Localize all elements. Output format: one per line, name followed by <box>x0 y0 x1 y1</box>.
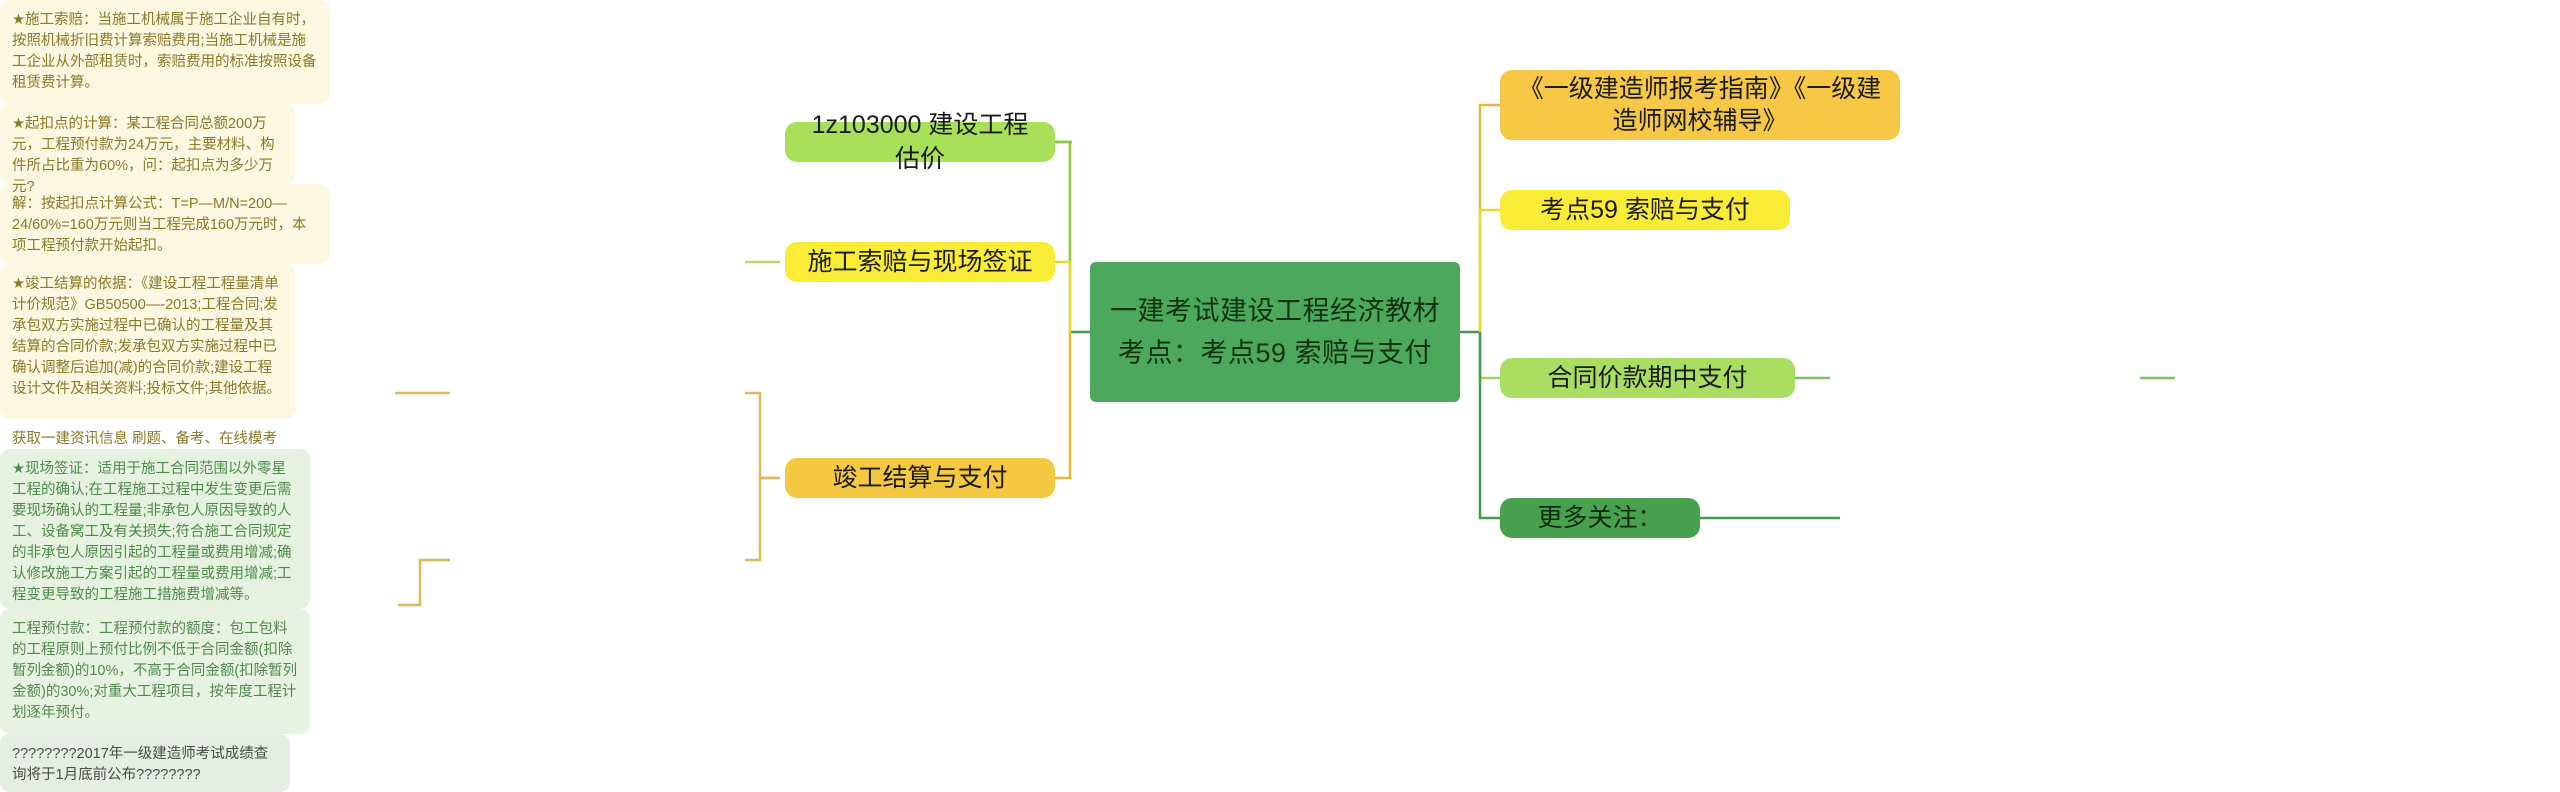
branch-interim-payment-label: 合同价款期中支付 <box>1547 361 1747 395</box>
note-footer-links-text: 获取一建资讯信息 刷题、备考、在线模考 <box>12 431 277 447</box>
branch-more-focus-label: 更多关注： <box>1537 501 1662 535</box>
note-deduction-solution[interactable]: 解：按起扣点计算公式：T=P—M/N=200—24/60%=160万元则当工程完… <box>0 184 330 264</box>
branch-interim-payment[interactable]: 合同价款期中支付 <box>1500 358 1795 398</box>
note-settlement-basis-text: ★竣工结算的依据：《建设工程工程量清单计价规范》GB50500—-2013;工程… <box>12 276 281 397</box>
branch-settlement[interactable]: 竣工结算与支付 <box>785 458 1055 498</box>
branch-guide[interactable]: 《一级建造师报考指南》《一级建造师网校辅导》 <box>1500 70 1900 140</box>
note-more-focus-text-content: ????????2017年一级建造师考试成绩查询将于1月底前公布???????? <box>12 746 268 783</box>
note-more-focus-text[interactable]: ????????2017年一级建造师考试成绩查询将于1月底前公布???????? <box>0 734 290 792</box>
central-topic-label: 一建考试建设工程经济教材考点：考点59 索赔与支付 <box>1102 290 1448 374</box>
central-topic[interactable]: 一建考试建设工程经济教材考点：考点59 索赔与支付 <box>1090 262 1460 402</box>
note-footer-links[interactable]: 获取一建资讯信息 刷题、备考、在线模考 <box>0 419 290 449</box>
mindmap-canvas: 一建考试建设工程经济教材考点：考点59 索赔与支付 1z103000 建设工程估… <box>0 0 2560 704</box>
note-site-visa[interactable]: ★现场签证：适用于施工合同范围以外零星工程的确认;在工程施工过程中发生变更后需要… <box>0 449 310 609</box>
branch-estimate-label: 1z103000 建设工程估价 <box>801 108 1039 176</box>
note-settlement-basis[interactable]: ★竣工结算的依据：《建设工程工程量清单计价规范》GB50500—-2013;工程… <box>0 264 295 419</box>
note-claim-detail-text: ★施工索赔：当施工机械属于施工企业自有时，按照机械折旧费计算索赔费用;当施工机械… <box>12 12 317 91</box>
branch-claim[interactable]: 施工索赔与现场签证 <box>785 242 1055 282</box>
branch-estimate[interactable]: 1z103000 建设工程估价 <box>785 122 1055 162</box>
branch-settlement-label: 竣工结算与支付 <box>832 461 1007 495</box>
note-claim-detail[interactable]: ★施工索赔：当施工机械属于施工企业自有时，按照机械折旧费计算索赔费用;当施工机械… <box>0 0 330 104</box>
branch-more-focus[interactable]: 更多关注： <box>1500 498 1700 538</box>
note-advance-payment[interactable]: 工程预付款：工程预付款的额度：包工包料的工程原则上预付比例不低于合同金额(扣除暂… <box>0 609 310 734</box>
note-deduction-point[interactable]: ★起扣点的计算：某工程合同总额200万元，工程预付款为24万元，主要材料、构件所… <box>0 104 295 184</box>
branch-point59[interactable]: 考点59 索赔与支付 <box>1500 190 1790 230</box>
branch-guide-label: 《一级建造师报考指南》《一级建造师网校辅导》 <box>1516 73 1884 137</box>
note-site-visa-text: ★现场签证：适用于施工合同范围以外零星工程的确认;在工程施工过程中发生变更后需要… <box>12 461 292 603</box>
branch-point59-label: 考点59 索赔与支付 <box>1540 193 1750 227</box>
branch-claim-label: 施工索赔与现场签证 <box>807 245 1032 279</box>
note-deduction-solution-text: 解：按起扣点计算公式：T=P—M/N=200—24/60%=160万元则当工程完… <box>12 196 307 254</box>
note-advance-payment-text: 工程预付款：工程预付款的额度：包工包料的工程原则上预付比例不低于合同金额(扣除暂… <box>12 621 297 721</box>
